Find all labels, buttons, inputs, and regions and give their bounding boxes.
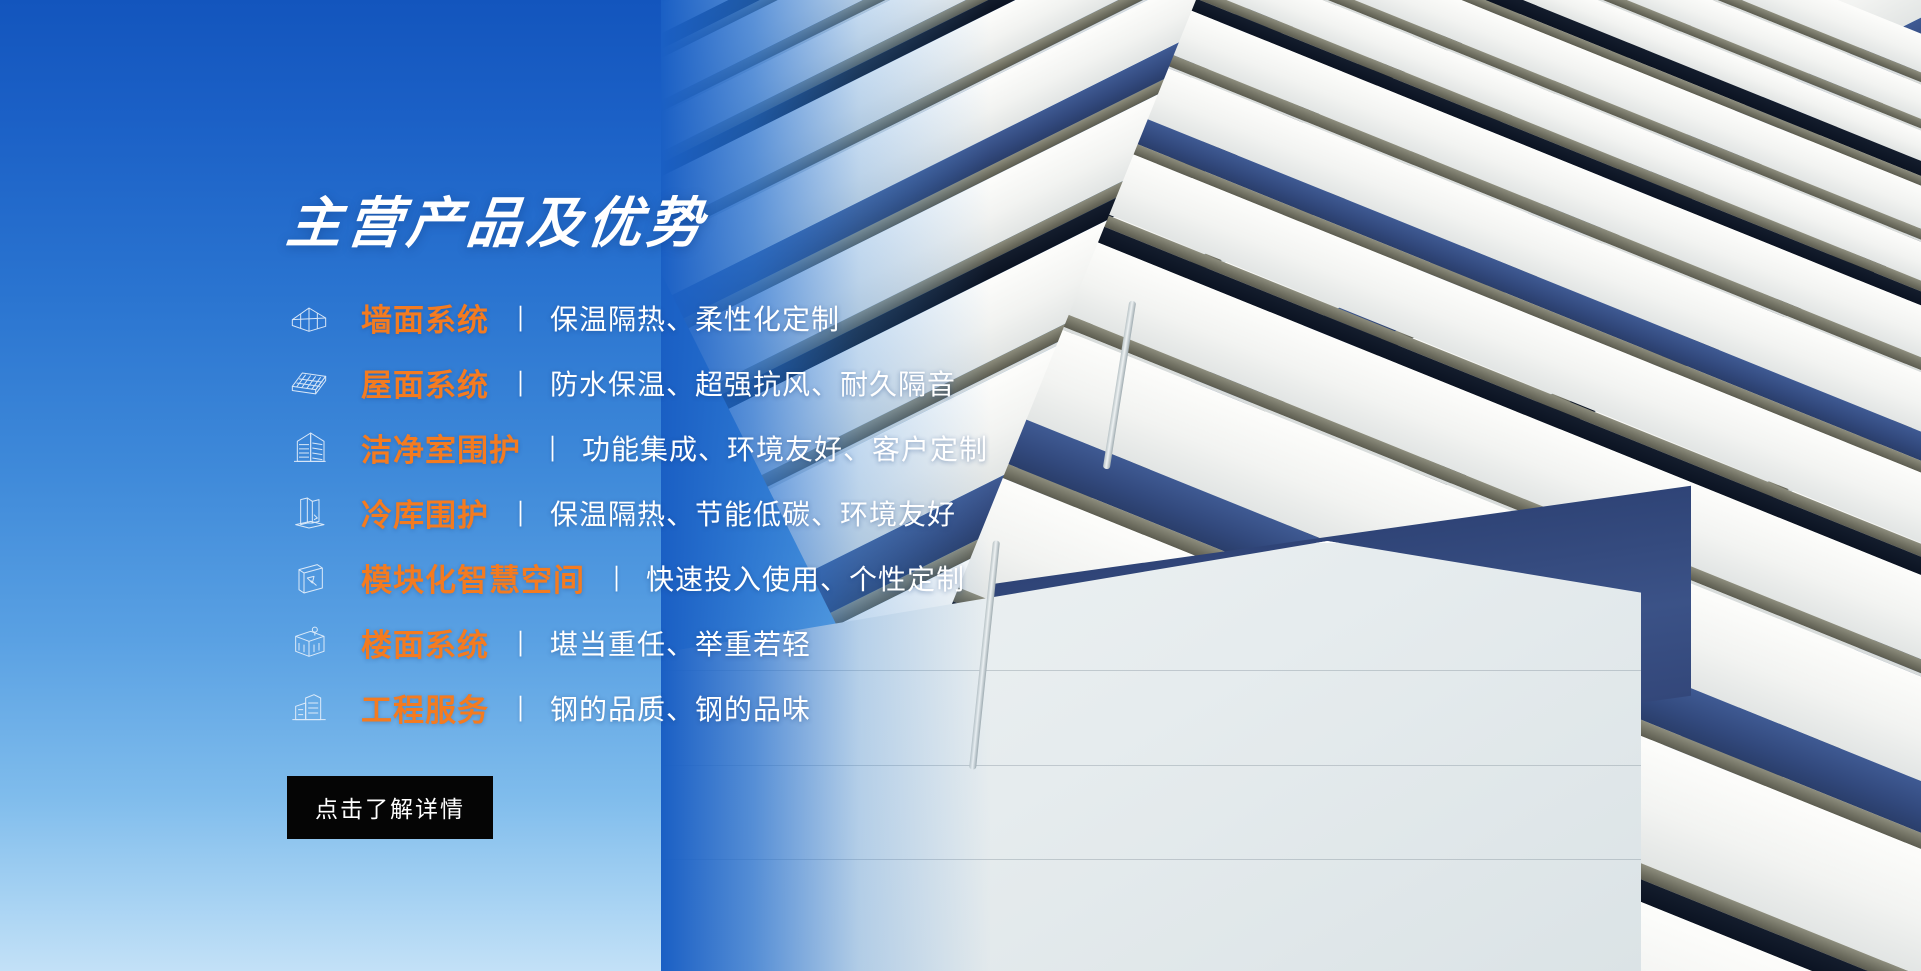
cleanroom-enclosure-icon [287,426,331,470]
product-desc: 功能集成、环境友好、客户定制 [582,428,988,468]
wall-system-icon [287,296,331,340]
page-title: 主营产品及优势 [284,196,1290,251]
product-title: 工程服务 [361,685,489,730]
title-separator: 丨 [513,363,528,402]
learn-more-button[interactable]: 点击了解详情 [287,776,493,839]
engineering-service-icon [287,686,331,730]
product-desc: 堪当重任、举重若轻 [550,623,811,663]
title-separator: 丨 [513,688,528,727]
product-title: 模块化智慧空间 [361,555,585,600]
title-separator: 丨 [513,623,528,662]
product-title: 屋面系统 [361,360,489,405]
list-item[interactable]: 模块化智慧空间 丨 快速投入使用、个性定制 [287,545,1287,610]
list-item[interactable]: 屋面系统 丨 防水保温、超强抗风、耐久隔音 [287,350,1287,415]
list-item[interactable]: 工程服务 丨 钢的品质、钢的品味 [287,675,1287,740]
title-separator: 丨 [545,428,560,467]
floor-system-icon [287,621,331,665]
list-item[interactable]: 冷库围护 丨 保温隔热、节能低碳、环境友好 [287,480,1287,545]
title-separator: 丨 [609,558,624,597]
list-item[interactable]: 墙面系统 丨 保温隔热、柔性化定制 [287,285,1287,350]
list-item[interactable]: 楼面系统 丨 堪当重任、举重若轻 [287,610,1287,675]
product-desc: 保温隔热、柔性化定制 [550,298,840,338]
roof-system-icon [287,361,331,405]
modular-smart-space-icon [287,556,331,600]
product-desc: 防水保温、超强抗风、耐久隔音 [550,363,956,403]
product-title: 墙面系统 [361,295,489,340]
list-item[interactable]: 洁净室围护 丨 功能集成、环境友好、客户定制 [287,415,1287,480]
product-desc: 保温隔热、节能低碳、环境友好 [550,493,956,533]
product-title: 楼面系统 [361,620,489,665]
product-list: 墙面系统 丨 保温隔热、柔性化定制 屋面系统 丨 防水保温、超强抗风、耐久隔音 [287,285,1287,740]
product-desc: 钢的品质、钢的品味 [550,688,811,728]
cold-storage-enclosure-icon [287,491,331,535]
title-separator: 丨 [513,493,528,532]
product-title: 冷库围护 [361,490,489,535]
product-title: 洁净室围护 [361,425,521,470]
product-advantages-banner: 主营产品及优势 墙面系统 丨 保温隔热、柔性化定制 [0,0,1921,971]
banner-content: 主营产品及优势 墙面系统 丨 保温隔热、柔性化定制 [287,196,1287,839]
product-desc: 快速投入使用、个性定制 [646,558,965,598]
title-separator: 丨 [513,298,528,337]
